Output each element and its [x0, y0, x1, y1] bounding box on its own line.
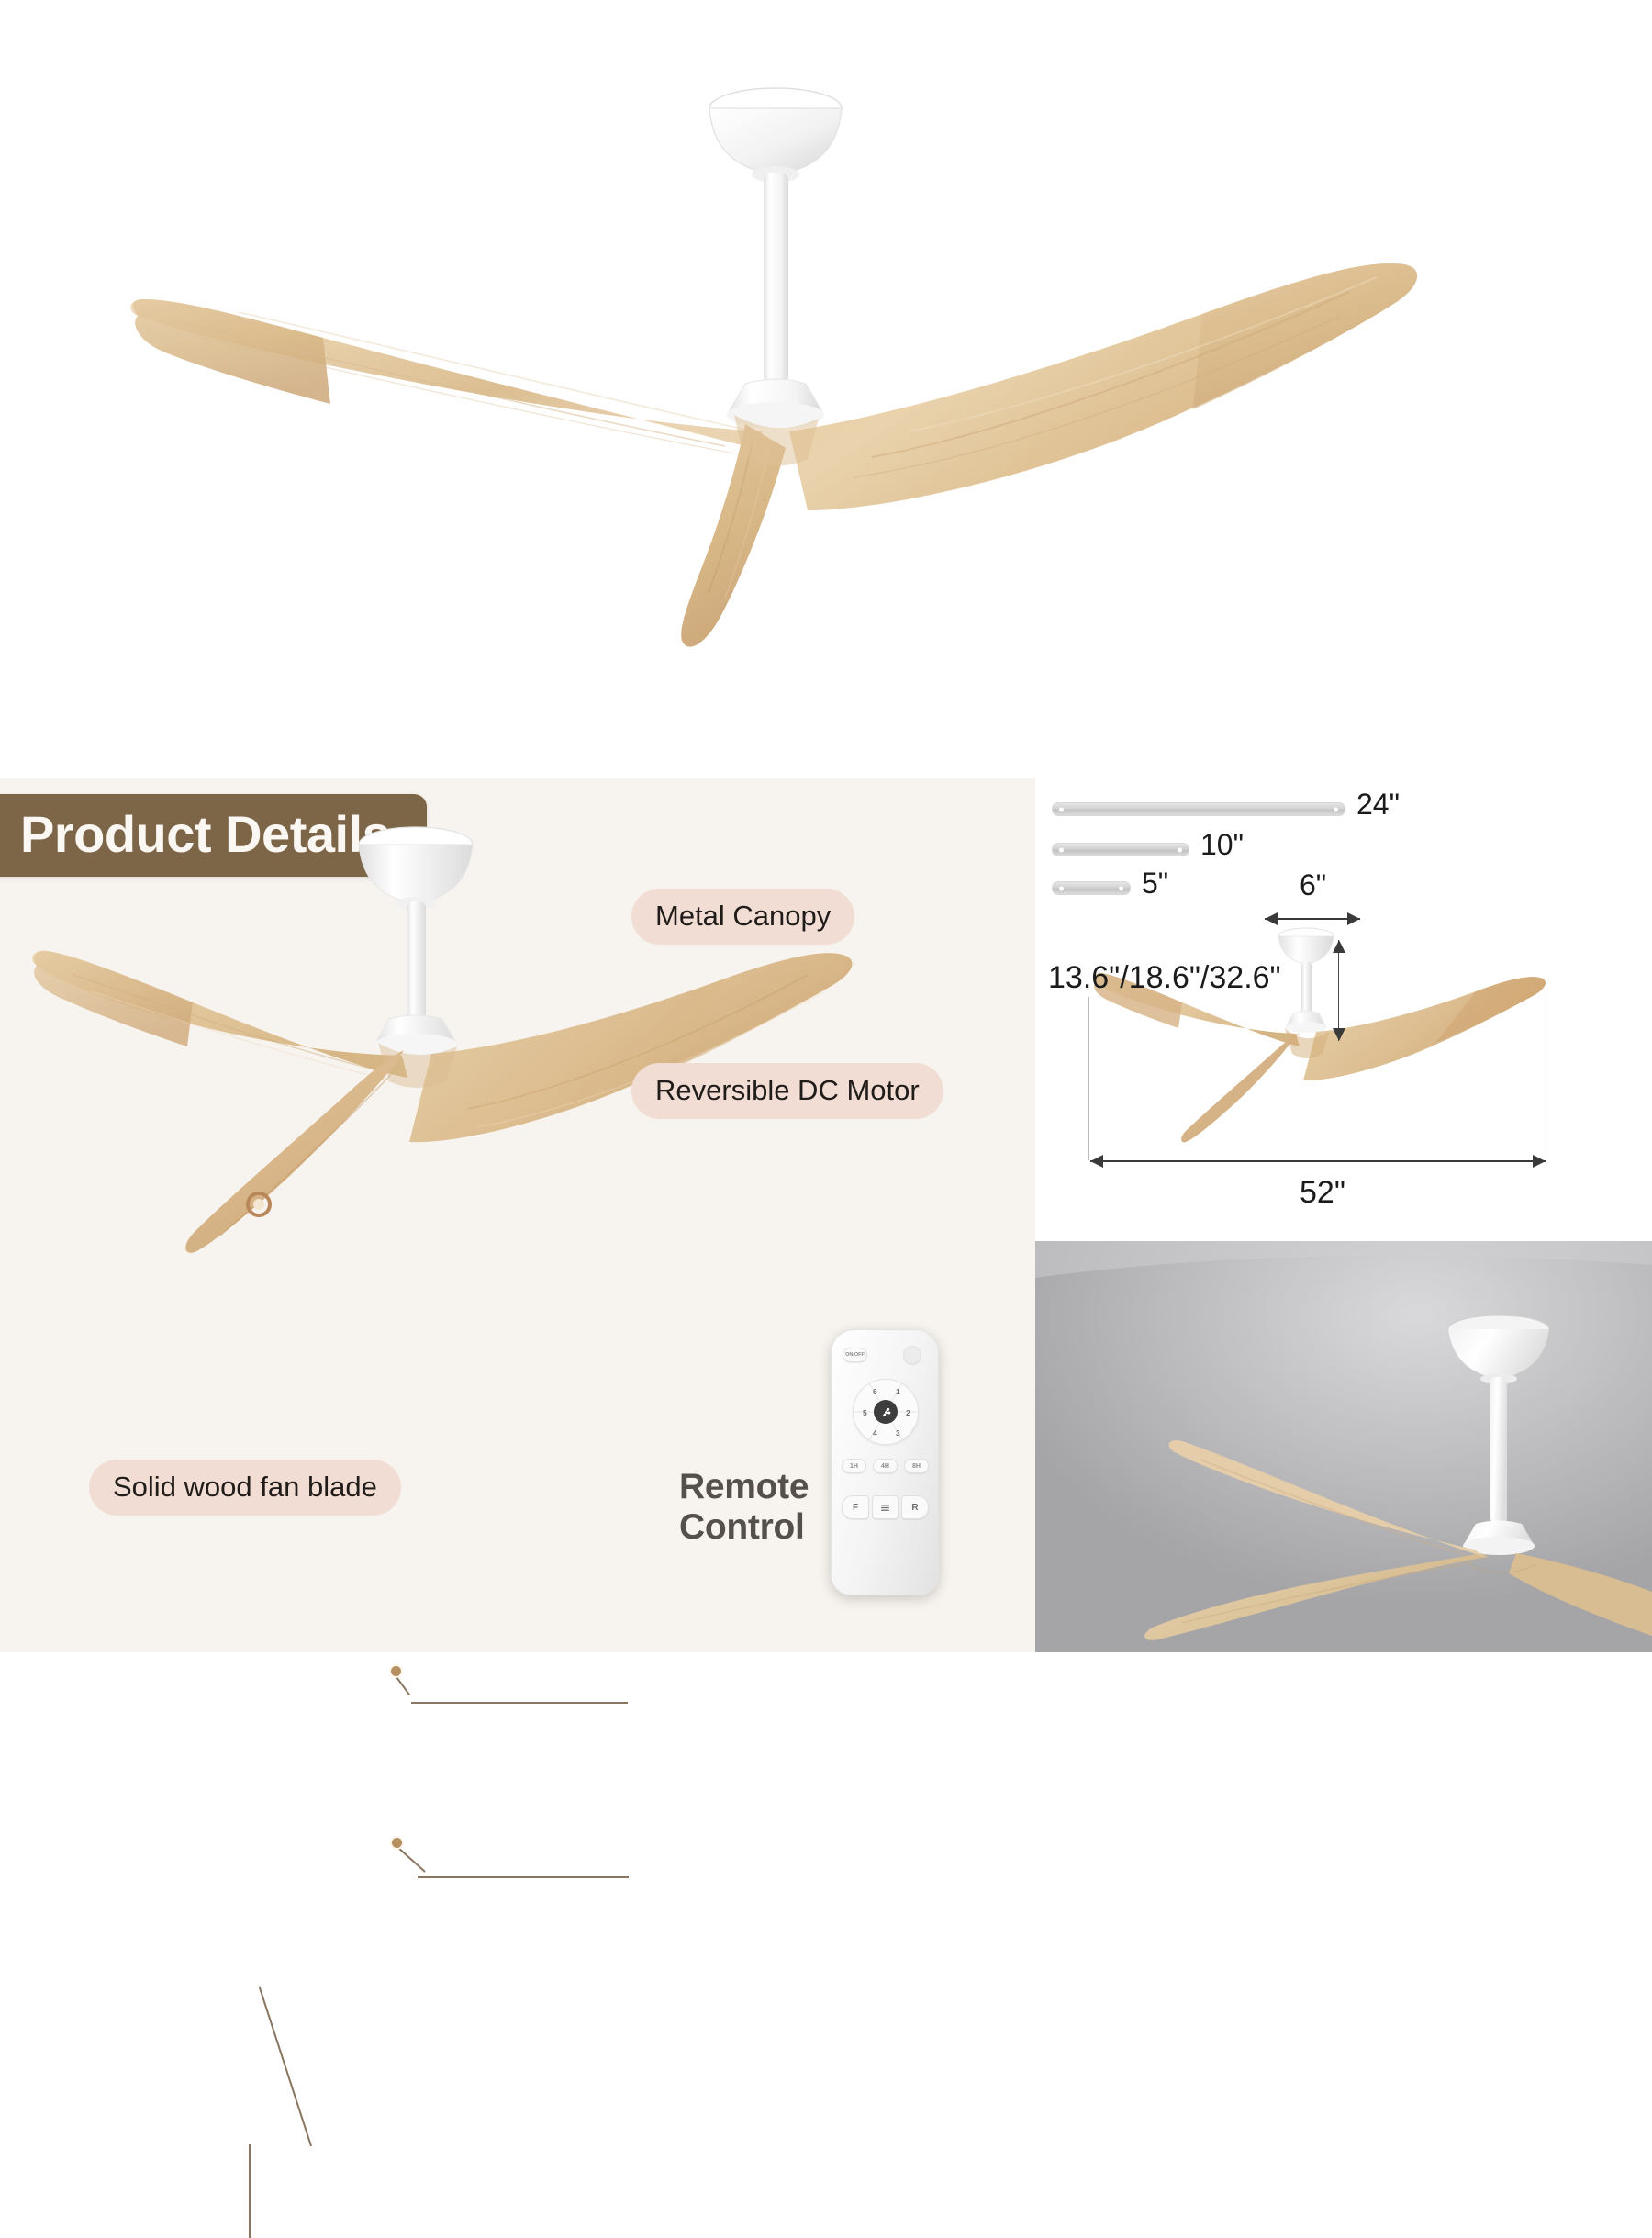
hero-product-image [0, 0, 1652, 745]
remote-label-line-1: Remote [679, 1467, 809, 1507]
speed-button-3[interactable]: 3 [896, 1428, 900, 1438]
callout-solid-wood-fan-blade[interactable]: Solid wood fan blade [89, 1460, 401, 1516]
height-options-label: 13.6"/18.6"/32.6" [1048, 960, 1281, 996]
lifestyle-fan-render [1035, 1241, 1652, 1652]
callout-dot-motor [390, 1836, 404, 1850]
timer-button-8h[interactable]: 8H [904, 1459, 929, 1473]
leader-line-blade [249, 2144, 251, 2238]
callout-reversible-dc-motor[interactable]: Reversible DC Motor [631, 1063, 943, 1119]
fan-icon[interactable] [874, 1400, 898, 1424]
leader-line-motor [418, 1876, 629, 1878]
leader-line-canopy [411, 1702, 628, 1704]
light-icon-button[interactable] [872, 1495, 899, 1519]
remote-power-button[interactable]: ON/OFF [843, 1348, 867, 1362]
speed-button-2[interactable]: 2 [906, 1408, 910, 1417]
height-dim-arrow-up [1333, 940, 1345, 953]
callout-metal-canopy[interactable]: Metal Canopy [631, 889, 854, 945]
blade-span-label: 52" [1300, 1175, 1345, 1211]
remote-control-label: Remote Control [679, 1467, 809, 1547]
leader-line-motor-angle [396, 1845, 425, 1872]
speed-button-4[interactable]: 4 [873, 1428, 877, 1438]
fan-side-view-illustration [1035, 778, 1652, 1241]
hero-fan-illustration [0, 0, 1652, 745]
span-extension-right [1546, 988, 1546, 1160]
remote-speed-dial[interactable]: 1 2 3 4 5 6 [853, 1379, 919, 1445]
speed-button-6[interactable]: 6 [873, 1387, 877, 1396]
timer-button-4h[interactable]: 4H [873, 1459, 898, 1473]
height-dim-arrow-down [1333, 1028, 1345, 1041]
remote-label-line-2: Control [679, 1507, 809, 1548]
speed-button-1[interactable]: 1 [896, 1387, 900, 1396]
span-extension-left [1088, 997, 1089, 1160]
blade-span-arrow-right [1533, 1155, 1546, 1168]
forward-button[interactable]: F [842, 1495, 869, 1519]
height-dim-vertical-line [1338, 940, 1339, 1041]
reverse-button[interactable]: R [901, 1495, 929, 1519]
remote-indicator [903, 1346, 921, 1364]
blade-span-arrow-left [1090, 1155, 1103, 1168]
leader-line-blade-angle [259, 1987, 312, 2147]
remote-control-device[interactable]: ON/OFF 1 2 3 4 5 6 1H 4H 8H F [831, 1329, 939, 1595]
speed-button-5[interactable]: 5 [863, 1408, 867, 1417]
lifestyle-photo [1035, 1241, 1652, 1652]
timer-button-1h[interactable]: 1H [842, 1459, 866, 1473]
dimension-diagram-panel: 24" 10" 5" 6" [1035, 778, 1652, 1241]
blade-span-arrow-line [1090, 1160, 1546, 1162]
callout-dot-canopy [389, 1664, 403, 1678]
